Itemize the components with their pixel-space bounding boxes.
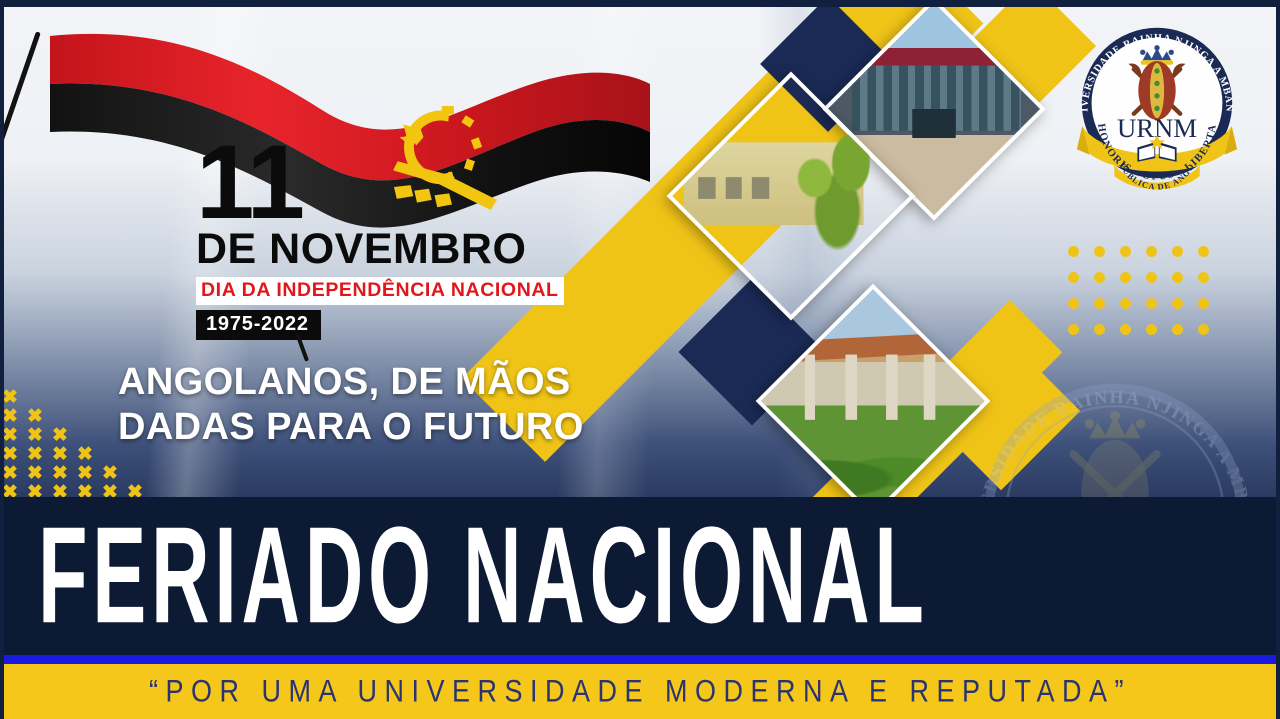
- slogan: ANGOLANOS, DE MÃOS DADAS PARA O FUTURO: [118, 360, 584, 450]
- dot-grid-decor: [1068, 246, 1224, 350]
- independence-day-banner: 11 DE NOVEMBRO DIA DA INDEPENDÊNCIA NACI…: [0, 0, 1280, 719]
- slogan-line-1: ANGOLANOS, DE MÃOS: [118, 360, 584, 405]
- date-block: 11 DE NOVEMBRO DIA DA INDEPENDÊNCIA NACI…: [196, 140, 564, 340]
- footer-bar: “POR UMA UNIVERSIDADE MODERNA E REPUTADA…: [0, 664, 1280, 719]
- independence-label: DIA DA INDEPENDÊNCIA NACIONAL: [196, 277, 564, 305]
- slogan-line-2: DADAS PARA O FUTURO: [118, 405, 584, 450]
- holiday-title: FERIADO NACIONAL: [0, 497, 1280, 655]
- frame-top-border: [0, 0, 1280, 7]
- years-badge: 1975-2022: [196, 310, 321, 340]
- month-label: DE NOVEMBRO: [196, 228, 564, 271]
- footer-quote: “POR UMA UNIVERSIDADE MODERNA E REPUTADA…: [149, 674, 1131, 710]
- holiday-title-text: FERIADO NACIONAL: [38, 507, 929, 644]
- footer-blue-rule: [0, 655, 1280, 664]
- frame-left-border: [0, 0, 4, 719]
- frame-right-border: [1276, 0, 1280, 719]
- urnm-crest-logo: UNIVERSIDADE RAINHA NJINGA A MBANDE URNM: [1068, 14, 1246, 192]
- day-number: 11: [196, 140, 564, 226]
